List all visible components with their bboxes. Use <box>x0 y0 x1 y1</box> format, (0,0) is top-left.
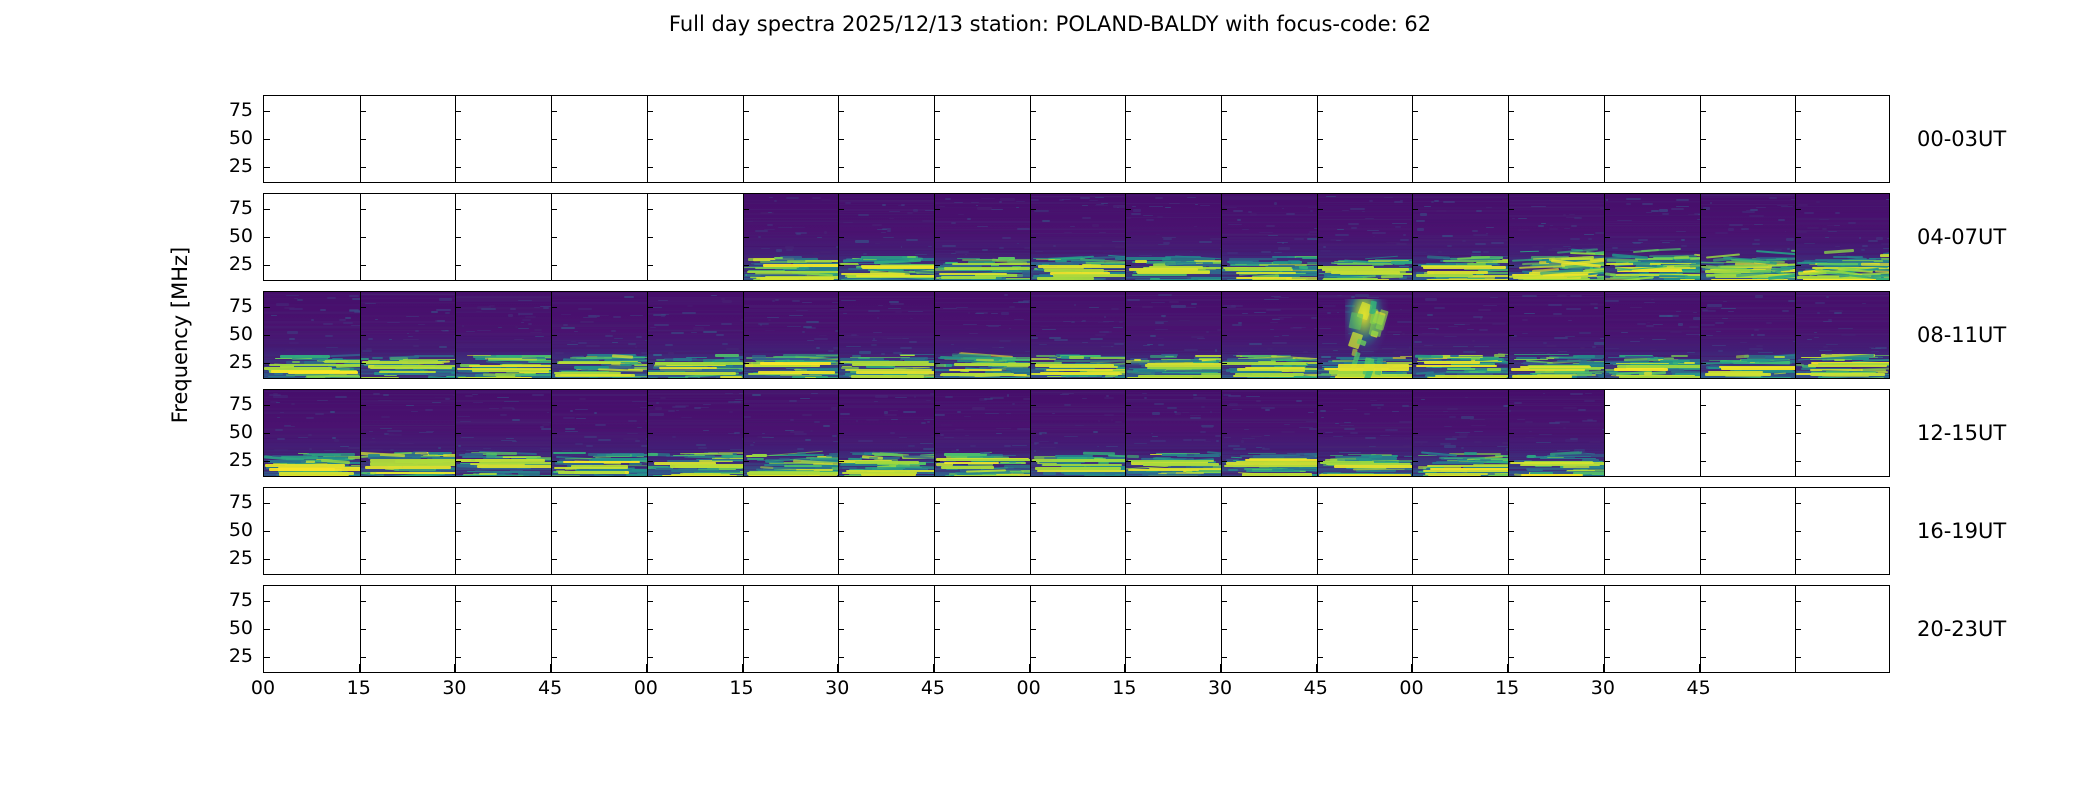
y-tick <box>455 461 461 462</box>
y-tick <box>1604 265 1610 266</box>
y-tick <box>1795 335 1801 336</box>
row-time-label: 16-19UT <box>1917 519 2006 543</box>
x-tick-label: 00 <box>634 677 658 699</box>
y-tick <box>1795 433 1801 434</box>
y-tick <box>360 601 366 602</box>
y-tick <box>647 433 653 434</box>
x-tick-label: 15 <box>347 677 371 699</box>
y-tick <box>1508 433 1514 434</box>
y-tick <box>1125 461 1131 462</box>
x-tick-label: 30 <box>442 677 466 699</box>
spectrogram-tile <box>1125 194 1221 280</box>
y-tick <box>1795 461 1801 462</box>
y-tick <box>455 629 461 630</box>
y-tick <box>1604 657 1610 658</box>
y-tick <box>1030 559 1036 560</box>
y-tick <box>838 265 844 266</box>
spectrogram-tile <box>838 194 934 280</box>
y-tick <box>1412 111 1418 112</box>
y-tick <box>360 629 366 630</box>
y-tick <box>1030 237 1036 238</box>
y-tick <box>551 139 557 140</box>
spectrogram-tile <box>1030 194 1126 280</box>
y-tick <box>743 461 749 462</box>
y-tick <box>838 461 844 462</box>
y-tick <box>647 307 653 308</box>
y-tick <box>455 265 461 266</box>
y-tick <box>360 265 366 266</box>
spectrogram-tile <box>1221 390 1317 476</box>
y-tick <box>1700 601 1706 602</box>
y-tick <box>1317 237 1323 238</box>
y-tick <box>551 601 557 602</box>
y-tick <box>1508 209 1514 210</box>
y-tick <box>264 657 270 658</box>
y-tick <box>838 657 844 658</box>
y-tick <box>551 461 557 462</box>
y-tick <box>264 111 270 112</box>
y-tick <box>455 139 461 140</box>
y-tick <box>1412 139 1418 140</box>
y-tick <box>1317 209 1323 210</box>
y-tick <box>647 531 653 532</box>
y-tick <box>360 335 366 336</box>
y-tick <box>1317 405 1323 406</box>
y-tick <box>1221 209 1227 210</box>
y-tick <box>1604 531 1610 532</box>
y-tick <box>1604 335 1610 336</box>
y-tick <box>838 111 844 112</box>
y-tick <box>1604 111 1610 112</box>
y-tick <box>360 657 366 658</box>
y-tick <box>1125 307 1131 308</box>
spectrogram-tile <box>1604 194 1700 280</box>
row-plot-area <box>263 193 1890 281</box>
y-tick <box>551 629 557 630</box>
y-tick <box>1412 503 1418 504</box>
y-tick <box>934 363 940 364</box>
y-tick <box>1508 405 1514 406</box>
spectrogram-row <box>263 193 1890 281</box>
y-tick-label: 50 <box>229 127 253 149</box>
y-tick <box>743 601 749 602</box>
spectrogram-tile <box>1221 292 1317 378</box>
spectrogram-row <box>263 389 1890 477</box>
row-time-label: 20-23UT <box>1917 617 2006 641</box>
y-tick <box>1795 601 1801 602</box>
y-tick-label: 50 <box>229 617 253 639</box>
y-tick <box>551 503 557 504</box>
row-plot-area <box>263 95 1890 183</box>
y-tick <box>743 405 749 406</box>
y-tick <box>1604 237 1610 238</box>
x-tick-label: 15 <box>729 677 753 699</box>
y-tick <box>455 601 461 602</box>
y-tick <box>1317 433 1323 434</box>
y-tick <box>1030 139 1036 140</box>
y-tick <box>264 335 270 336</box>
y-tick <box>934 531 940 532</box>
y-tick <box>1030 657 1036 658</box>
y-tick <box>1030 405 1036 406</box>
spectrogram-tile <box>934 390 1030 476</box>
y-tick <box>1030 265 1036 266</box>
y-tick <box>1221 139 1227 140</box>
y-tick <box>360 503 366 504</box>
y-tick <box>838 335 844 336</box>
y-tick <box>1700 265 1706 266</box>
spectrogram-tile <box>1508 292 1604 378</box>
y-tick <box>455 405 461 406</box>
y-tick <box>743 503 749 504</box>
spectrogram-figure: Full day spectra 2025/12/13 station: POL… <box>0 0 2100 800</box>
y-tick <box>1508 335 1514 336</box>
y-tick <box>1125 209 1131 210</box>
y-tick <box>1317 461 1323 462</box>
y-tick <box>838 503 844 504</box>
y-tick <box>934 167 940 168</box>
y-tick <box>838 167 844 168</box>
spectrogram-row <box>263 585 1890 673</box>
y-tick <box>1508 265 1514 266</box>
y-tick <box>360 363 366 364</box>
x-tick-label: 45 <box>1686 677 1710 699</box>
x-tick <box>263 664 264 673</box>
y-tick <box>360 237 366 238</box>
y-tick <box>455 363 461 364</box>
y-tick <box>1412 307 1418 308</box>
y-tick <box>1604 601 1610 602</box>
y-tick <box>551 559 557 560</box>
y-tick <box>1125 629 1131 630</box>
y-tick <box>743 335 749 336</box>
y-tick <box>1125 167 1131 168</box>
y-tick <box>647 237 653 238</box>
y-tick <box>455 209 461 210</box>
y-tick <box>1508 601 1514 602</box>
spectrogram-tile <box>1030 390 1126 476</box>
y-tick <box>264 629 270 630</box>
y-tick <box>551 433 557 434</box>
y-tick <box>1125 503 1131 504</box>
spectrogram-tile <box>455 292 551 378</box>
y-tick <box>551 209 557 210</box>
y-tick <box>1700 461 1706 462</box>
y-tick <box>1030 209 1036 210</box>
y-tick <box>360 307 366 308</box>
y-tick-label: 25 <box>229 547 253 569</box>
y-tick <box>1317 503 1323 504</box>
y-tick <box>1412 363 1418 364</box>
y-tick <box>360 111 366 112</box>
row-plot-area <box>263 585 1890 673</box>
y-tick <box>360 559 366 560</box>
y-tick <box>1030 433 1036 434</box>
y-tick <box>1030 601 1036 602</box>
y-tick <box>1317 111 1323 112</box>
y-tick <box>1795 139 1801 140</box>
y-tick <box>1125 335 1131 336</box>
y-tick <box>455 559 461 560</box>
y-tick-label: 75 <box>229 491 253 513</box>
y-tick <box>743 111 749 112</box>
y-tick <box>264 237 270 238</box>
y-tick-label: 75 <box>229 99 253 121</box>
y-tick <box>1604 209 1610 210</box>
y-tick <box>1412 629 1418 630</box>
x-tick <box>1603 664 1604 673</box>
y-tick <box>1700 559 1706 560</box>
row-plot-area <box>263 487 1890 575</box>
y-tick <box>838 601 844 602</box>
y-tick <box>360 461 366 462</box>
y-tick <box>1795 657 1801 658</box>
y-tick <box>647 559 653 560</box>
y-tick <box>1508 237 1514 238</box>
y-tick <box>264 433 270 434</box>
y-tick-label: 25 <box>229 155 253 177</box>
y-tick <box>551 237 557 238</box>
spectrogram-row <box>263 291 1890 379</box>
spectrogram-tile <box>551 292 647 378</box>
y-tick <box>1700 167 1706 168</box>
y-tick <box>1030 335 1036 336</box>
y-tick <box>1412 265 1418 266</box>
y-tick <box>360 405 366 406</box>
y-tick <box>1412 461 1418 462</box>
y-tick <box>1317 335 1323 336</box>
spectrogram-tile <box>1125 390 1221 476</box>
y-tick <box>1221 657 1227 658</box>
row-time-label: 12-15UT <box>1917 421 2006 445</box>
y-tick <box>360 531 366 532</box>
y-tick <box>1317 363 1323 364</box>
spectrogram-tile <box>1412 194 1508 280</box>
x-tick-label: 00 <box>251 677 275 699</box>
x-tick <box>359 664 360 673</box>
y-tick <box>1795 531 1801 532</box>
x-tick-label: 45 <box>1304 677 1328 699</box>
y-axis-label: Frequency [MHz] <box>168 95 194 575</box>
y-tick <box>934 559 940 560</box>
y-tick <box>264 559 270 560</box>
spectrogram-tile <box>1508 194 1604 280</box>
y-tick <box>1412 657 1418 658</box>
y-tick <box>1317 167 1323 168</box>
y-tick-label: 25 <box>229 645 253 667</box>
y-tick-label: 25 <box>229 351 253 373</box>
y-tick <box>1125 559 1131 560</box>
spectrogram-tile <box>360 292 456 378</box>
y-tick <box>1221 363 1227 364</box>
y-tick <box>1125 433 1131 434</box>
y-tick <box>1125 657 1131 658</box>
y-tick <box>264 307 270 308</box>
y-tick-labels: 755025 <box>197 291 253 379</box>
y-tick-labels: 755025 <box>197 95 253 183</box>
y-tick <box>551 307 557 308</box>
y-tick-label: 75 <box>229 589 253 611</box>
y-tick <box>934 307 940 308</box>
y-tick <box>1125 363 1131 364</box>
y-tick <box>1604 139 1610 140</box>
y-tick <box>647 167 653 168</box>
y-tick <box>1412 167 1418 168</box>
y-tick <box>647 363 653 364</box>
y-tick <box>1700 209 1706 210</box>
y-tick <box>647 335 653 336</box>
y-tick <box>1508 559 1514 560</box>
y-tick <box>934 433 940 434</box>
y-tick <box>1604 307 1610 308</box>
y-tick <box>1412 209 1418 210</box>
y-tick <box>743 265 749 266</box>
y-tick <box>1030 111 1036 112</box>
spectrogram-tile <box>1700 194 1796 280</box>
spectrogram-tile <box>1317 292 1413 378</box>
x-tick <box>933 664 934 673</box>
y-tick <box>1604 363 1610 364</box>
y-tick <box>1412 559 1418 560</box>
y-tick-label: 50 <box>229 421 253 443</box>
row-plot-area <box>263 291 1890 379</box>
y-tick <box>1795 629 1801 630</box>
y-tick <box>1221 335 1227 336</box>
x-tick-label: 30 <box>1208 677 1232 699</box>
y-tick <box>838 433 844 434</box>
y-tick <box>551 657 557 658</box>
y-tick <box>1700 629 1706 630</box>
y-tick <box>743 559 749 560</box>
y-tick <box>551 167 557 168</box>
x-tick-label: 30 <box>1591 677 1615 699</box>
y-tick <box>647 657 653 658</box>
spectrogram-tile <box>1412 390 1508 476</box>
y-tick-labels: 755025 <box>197 389 253 477</box>
y-tick-label: 25 <box>229 449 253 471</box>
y-tick <box>1508 531 1514 532</box>
spectrogram-tile <box>264 390 360 476</box>
y-tick <box>1221 237 1227 238</box>
y-tick <box>838 363 844 364</box>
y-tick <box>1700 111 1706 112</box>
y-tick <box>1700 237 1706 238</box>
y-tick <box>264 461 270 462</box>
y-tick <box>1412 237 1418 238</box>
x-tick-label: 00 <box>1399 677 1423 699</box>
y-tick <box>934 629 940 630</box>
spectrogram-tile <box>1795 292 1890 378</box>
y-tick <box>1030 307 1036 308</box>
x-tick-label: 45 <box>921 677 945 699</box>
spectrogram-tile <box>1412 292 1508 378</box>
y-tick <box>1221 531 1227 532</box>
y-tick <box>647 265 653 266</box>
y-tick <box>647 601 653 602</box>
x-tick <box>1124 664 1125 673</box>
y-tick-labels: 755025 <box>197 193 253 281</box>
y-tick <box>838 629 844 630</box>
y-tick <box>934 601 940 602</box>
y-tick <box>1221 167 1227 168</box>
y-tick <box>838 139 844 140</box>
x-tick <box>1316 664 1317 673</box>
spectrogram-tile <box>1221 194 1317 280</box>
y-tick <box>1508 139 1514 140</box>
y-tick <box>743 629 749 630</box>
x-tick <box>454 664 455 673</box>
y-tick <box>934 265 940 266</box>
y-tick <box>1795 237 1801 238</box>
y-tick <box>551 335 557 336</box>
y-tick <box>838 405 844 406</box>
y-tick <box>455 307 461 308</box>
y-tick-label: 50 <box>229 519 253 541</box>
spectrogram-tile <box>1604 292 1700 378</box>
y-tick <box>1317 657 1323 658</box>
spectrogram-tile <box>551 390 647 476</box>
y-tick <box>1795 111 1801 112</box>
y-tick <box>264 531 270 532</box>
y-tick <box>1604 405 1610 406</box>
y-tick <box>1221 405 1227 406</box>
y-tick-label: 50 <box>229 225 253 247</box>
y-tick <box>1700 531 1706 532</box>
y-tick <box>743 657 749 658</box>
y-tick <box>1030 167 1036 168</box>
y-tick <box>455 503 461 504</box>
y-tick <box>1412 601 1418 602</box>
y-tick <box>264 363 270 364</box>
y-tick <box>1221 265 1227 266</box>
y-tick <box>1317 601 1323 602</box>
y-tick <box>1125 601 1131 602</box>
y-tick <box>264 601 270 602</box>
y-tick <box>360 433 366 434</box>
y-tick <box>838 209 844 210</box>
y-tick <box>743 433 749 434</box>
y-tick <box>1221 461 1227 462</box>
y-tick <box>1125 531 1131 532</box>
y-tick <box>455 335 461 336</box>
y-tick <box>1508 363 1514 364</box>
y-tick <box>360 209 366 210</box>
y-tick <box>1700 503 1706 504</box>
y-tick <box>1604 559 1610 560</box>
y-tick <box>360 139 366 140</box>
y-tick <box>1125 265 1131 266</box>
row-plot-area <box>263 389 1890 477</box>
y-tick <box>264 167 270 168</box>
spectrogram-tile <box>1508 390 1604 476</box>
spectrogram-row <box>263 487 1890 575</box>
y-tick <box>1221 601 1227 602</box>
x-tick <box>1411 664 1412 673</box>
y-tick <box>1795 363 1801 364</box>
y-tick <box>647 111 653 112</box>
y-tick-labels: 755025 <box>197 487 253 575</box>
y-tick <box>1795 307 1801 308</box>
y-tick <box>360 167 366 168</box>
y-tick <box>1795 265 1801 266</box>
y-tick <box>1221 433 1227 434</box>
y-tick <box>838 531 844 532</box>
y-tick <box>1604 461 1610 462</box>
spectrogram-tile <box>1125 292 1221 378</box>
y-tick <box>551 111 557 112</box>
y-tick <box>1221 503 1227 504</box>
y-tick <box>1604 433 1610 434</box>
